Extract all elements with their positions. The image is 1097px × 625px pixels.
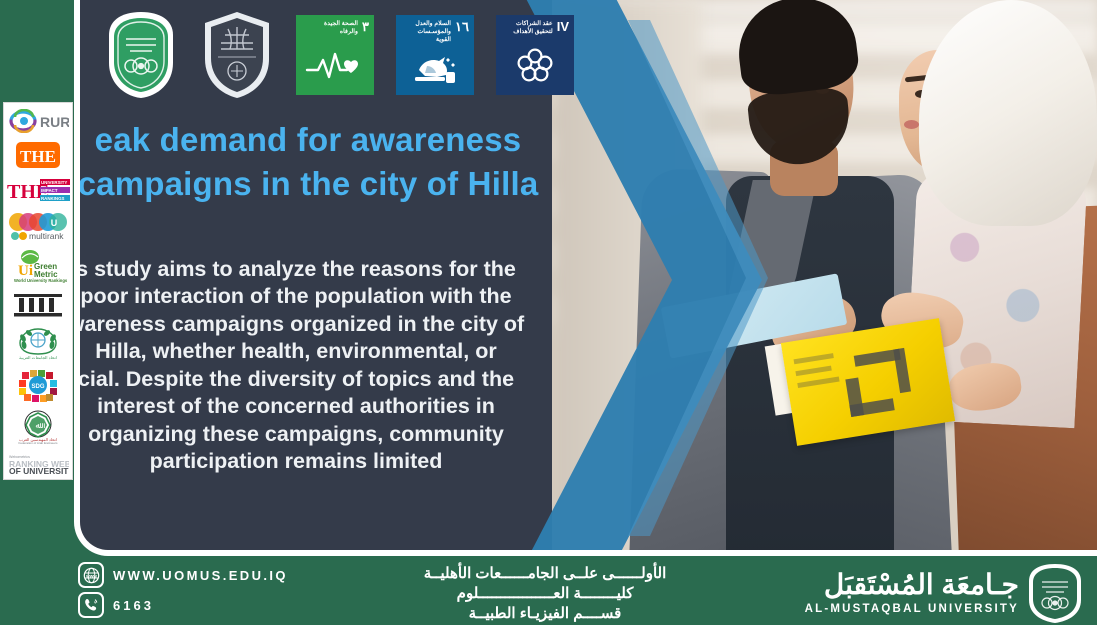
footer-bar: www WWW.UOMUS.EDU.IQ 6163 الأولــــــى ع… bbox=[0, 556, 1097, 625]
study-abstract: s study aims to analyze the reasons for … bbox=[74, 256, 550, 476]
website-row[interactable]: www WWW.UOMUS.EDU.IQ bbox=[78, 562, 288, 588]
partnership-circles-icon bbox=[501, 36, 569, 96]
svg-text:multirank: multirank bbox=[29, 231, 64, 241]
sdg-badge-3: الصحة الجيدة والرفاه ٣ bbox=[296, 15, 374, 95]
svg-text:Federation of Arab Engineers: Federation of Arab Engineers bbox=[18, 441, 58, 444]
brand-name-arabic: جـامعَة المُسْتَقبَل bbox=[805, 571, 1019, 599]
woman-hijab bbox=[919, 0, 1097, 226]
photo-woman-figure bbox=[837, 0, 1097, 550]
federation-of-arab-engineers-logo: ﷲ اتحاد المهندسين العرب Federation of Ar… bbox=[6, 410, 70, 444]
poster-card: الصحة الجيدة والرفاه ٣ السلام والعدل وال… bbox=[74, 0, 1097, 556]
svg-text:اتحاد الجامعات العربية: اتحاد الجامعات العربية bbox=[19, 355, 57, 360]
the-ranking-logo: THE bbox=[6, 141, 70, 169]
footer-arabic-line-3: قســــم الفيزيـاء الطبيــة bbox=[350, 604, 740, 624]
rur-ranking-logo: RUR bbox=[6, 109, 70, 133]
ranking-web-of-universities-logo: Webometrics RANKING WEB OF UNIVERSITIES bbox=[6, 452, 70, 474]
al-mustaqbal-university-crest bbox=[104, 9, 178, 101]
sdg-3-number: ٣ bbox=[362, 20, 369, 33]
footer-arabic-line-1: الأولــــــى علــى الجامــــــعات الأهلي… bbox=[350, 564, 740, 584]
the-impact-rankings-logo: THE UNIVERSITY IMPACT RANKINGS bbox=[6, 177, 70, 203]
ui-greenmetric-logo: Ui Green Metric World University Ranking… bbox=[6, 249, 70, 283]
footer-arabic-block: الأولــــــى علــى الجامــــــعات الأهلي… bbox=[350, 564, 740, 623]
website-url: WWW.UOMUS.EDU.IQ bbox=[113, 568, 288, 583]
svg-text:World University Rankings: World University Rankings bbox=[14, 278, 68, 283]
dove-gavel-icon bbox=[401, 43, 469, 95]
svg-text:IMPACT: IMPACT bbox=[41, 188, 58, 193]
brand-block: جـامعَة المُسْتَقبَل AL-MUSTAQBAL UNIVER… bbox=[805, 562, 1083, 624]
contact-block: www WWW.UOMUS.EDU.IQ 6163 bbox=[78, 562, 288, 618]
arab-universities-association-logo: اتحاد الجامعات العربية bbox=[6, 326, 70, 360]
study-title: eak demand for awareness campaigns in th… bbox=[74, 118, 550, 206]
phone-number: 6163 bbox=[113, 598, 154, 613]
svg-text:RUR: RUR bbox=[40, 114, 69, 130]
footer-arabic-line-2: كليــــــــة العـــــــــــــــــلوم bbox=[350, 584, 740, 604]
sdg-3-label: الصحة الجيدة والرفاه bbox=[308, 20, 358, 36]
phone-icon bbox=[78, 592, 104, 618]
pillars-ranking-logo bbox=[6, 292, 70, 318]
ranking-logos-sidebar: RUR THE THE UNIVERSITY IMPACT RANKINGS U bbox=[3, 102, 73, 480]
phone-row[interactable]: 6163 bbox=[78, 592, 288, 618]
svg-text:THE: THE bbox=[20, 147, 56, 166]
badge-row: الصحة الجيدة والرفاه ٣ السلام والعدل وال… bbox=[104, 5, 574, 105]
sdg-17-number: IV bbox=[557, 20, 569, 33]
svg-text:RANKINGS: RANKINGS bbox=[41, 196, 64, 201]
brand-name-english: AL-MUSTAQBAL UNIVERSITY bbox=[805, 603, 1019, 615]
svg-text:U: U bbox=[51, 218, 58, 228]
svg-text:Ui: Ui bbox=[18, 263, 33, 279]
sdg-17-label: عقد الشراكات لتحقيق الأهداف bbox=[503, 20, 553, 36]
svg-text:UNIVERSITY: UNIVERSITY bbox=[41, 180, 67, 185]
sdg-badge-17: عقد الشراكات لتحقيق الأهداف IV bbox=[496, 15, 574, 95]
svg-text:OF UNIVERSITIES: OF UNIVERSITIES bbox=[9, 466, 69, 474]
svg-text:SDG: SDG bbox=[31, 384, 44, 390]
sdg-16-number: ١٦ bbox=[455, 20, 469, 33]
globe-www-icon: www bbox=[78, 562, 104, 588]
svg-text:www: www bbox=[85, 573, 97, 578]
awareness-campaign-photo bbox=[552, 0, 1097, 550]
brand-text: جـامعَة المُسْتَقبَل AL-MUSTAQBAL UNIVER… bbox=[805, 571, 1019, 615]
sdg-wheel-logo: SDG bbox=[6, 368, 70, 402]
sdg-16-label: السلام والعدل والمؤسـسات القوية bbox=[401, 20, 451, 43]
u-multirank-logo: U multirank bbox=[6, 211, 70, 241]
sdg-badge-16: السلام والعدل والمؤسـسات القوية ١٦ bbox=[396, 15, 474, 95]
woman-lip bbox=[904, 120, 919, 129]
heartbeat-icon bbox=[301, 36, 369, 96]
al-mustaqbal-shield-logo bbox=[1027, 562, 1083, 624]
college-of-sciences-crest bbox=[200, 9, 274, 101]
